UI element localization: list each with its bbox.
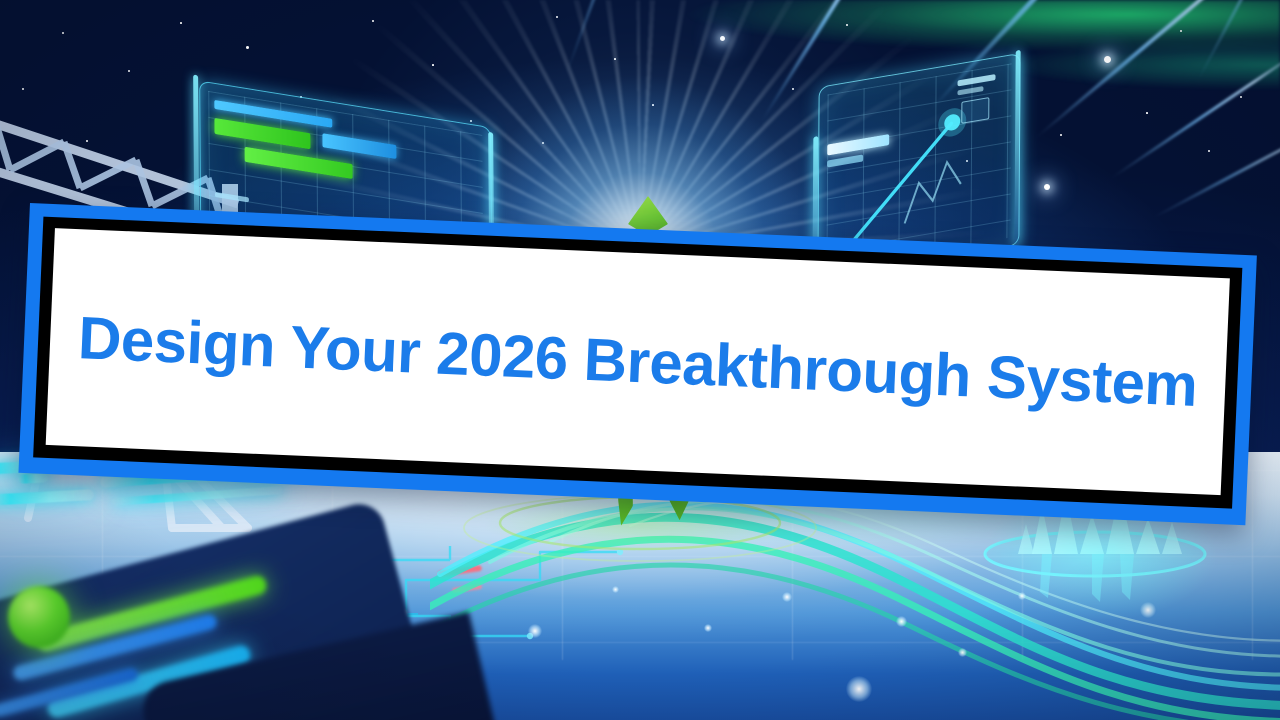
headline-banner: Design Your 2026 Breakthrough System: [18, 203, 1256, 525]
headline-banner-face: Design Your 2026 Breakthrough System: [46, 228, 1230, 495]
headline-banner-inner-frame: Design Your 2026 Breakthrough System: [33, 217, 1242, 509]
foreground-green-sphere: [8, 586, 70, 648]
page-title: Design Your 2026 Breakthrough System: [69, 306, 1207, 418]
poster-canvas: Design Your 2026 Breakthrough System: [0, 0, 1280, 720]
